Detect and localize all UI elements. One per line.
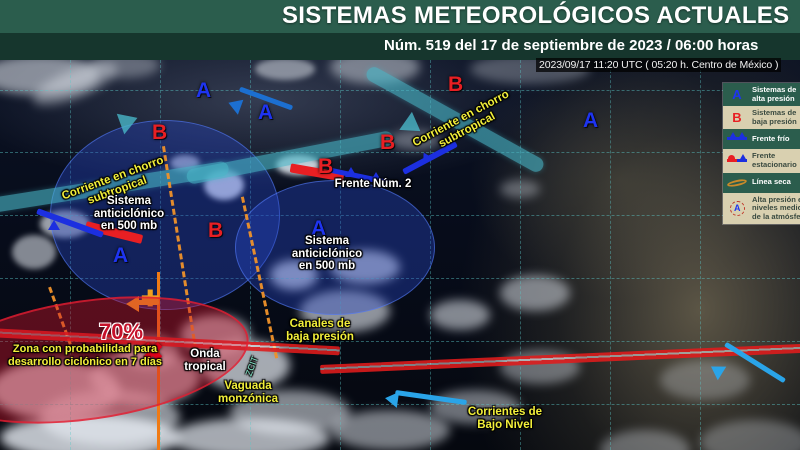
letter-a-icon: A (726, 88, 748, 102)
label-monsoon-trough: Vaguada monzónica (206, 380, 290, 405)
low-level-arrow-1-head (384, 390, 399, 408)
label-anticyclone-pacific: Sistema anticiclónico en 500 mb (74, 195, 184, 233)
letter-b-icon: B (726, 111, 748, 125)
legend-item-dry-line[interactable]: Línea seca (723, 173, 800, 193)
label-anticyclone-gulf: Sistema anticiclónico en 500 mb (272, 235, 382, 273)
low-level-arrow-1 (395, 390, 467, 405)
pressure-symbol-b-4: B (448, 74, 463, 95)
low-level-arrow-3-head (226, 95, 244, 114)
pressure-symbol-a-3: A (583, 110, 598, 131)
legend-item-cold-front[interactable]: Frente frío (723, 129, 800, 149)
legend-item-mid-level-high[interactable]: A Alta presión en niveles medios de la a… (723, 193, 800, 225)
mid-level-high-icon: A (726, 201, 748, 215)
label-low-level-currents: Corrientes de Bajo Nivel (450, 406, 560, 431)
legend-label-low-pressure: Sistemas de baja presión (752, 109, 797, 126)
label-cyclone-zone: Zona con probabilidad para desarrollo ci… (0, 343, 200, 368)
pressure-symbol-b-5: B (208, 220, 223, 241)
page-title: SISTEMAS METEOROLÓGICOS ACTUALES (282, 2, 789, 30)
pressure-symbol-b-1: B (152, 122, 167, 143)
label-cold-front-2: Frente Núm. 2 (318, 178, 428, 191)
legend-label-high-pressure: Sistemas de alta presión (752, 86, 796, 103)
legend-label-stationary-front: Frente estacionario (752, 152, 797, 169)
pressure-symbol-b-3: B (380, 132, 395, 153)
stationary-front-icon (726, 154, 748, 168)
bulletin-subtitle: Núm. 519 del 17 de septiembre de 2023 / … (384, 37, 758, 54)
legend-label-mid-level-high: Alta presión en niveles medios de la atm… (752, 196, 800, 222)
timestamp-label: 2023/09/17 11:20 UTC ( 05:20 h. Centro d… (536, 58, 781, 72)
legend-item-low-pressure[interactable]: B Sistemas de baja presión (723, 106, 800, 129)
legend-panel: A Sistemas de alta presión B Sistemas de… (722, 82, 800, 225)
legend-label-cold-front: Frente frío (752, 135, 790, 144)
legend-item-stationary-front[interactable]: Frente estacionario (723, 149, 800, 172)
low-level-arrow-2-head (707, 360, 727, 380)
pressure-symbol-a-1: A (196, 80, 211, 101)
screenshot-root: SISTEMAS METEOROLÓGICOS ACTUALES Núm. 51… (0, 0, 800, 450)
legend-label-dry-line: Línea seca (752, 178, 791, 187)
pressure-symbol-a-4: A (113, 245, 128, 266)
legend-item-high-pressure[interactable]: A Sistemas de alta presión (723, 83, 800, 106)
front-barb-1 (345, 167, 357, 177)
dry-line-icon (726, 176, 748, 190)
satellite-map[interactable]: ✚ 70% ✖ A A A A A B B B B B Corriente en… (0, 60, 800, 450)
pressure-symbol-a-2: A (258, 102, 273, 123)
label-low-pressure-channels: Canales de baja presión (270, 318, 370, 343)
cyclone-probability-value: 70% (99, 319, 143, 345)
cold-front-icon (726, 132, 748, 146)
pressure-symbol-b-2: B (318, 156, 333, 177)
